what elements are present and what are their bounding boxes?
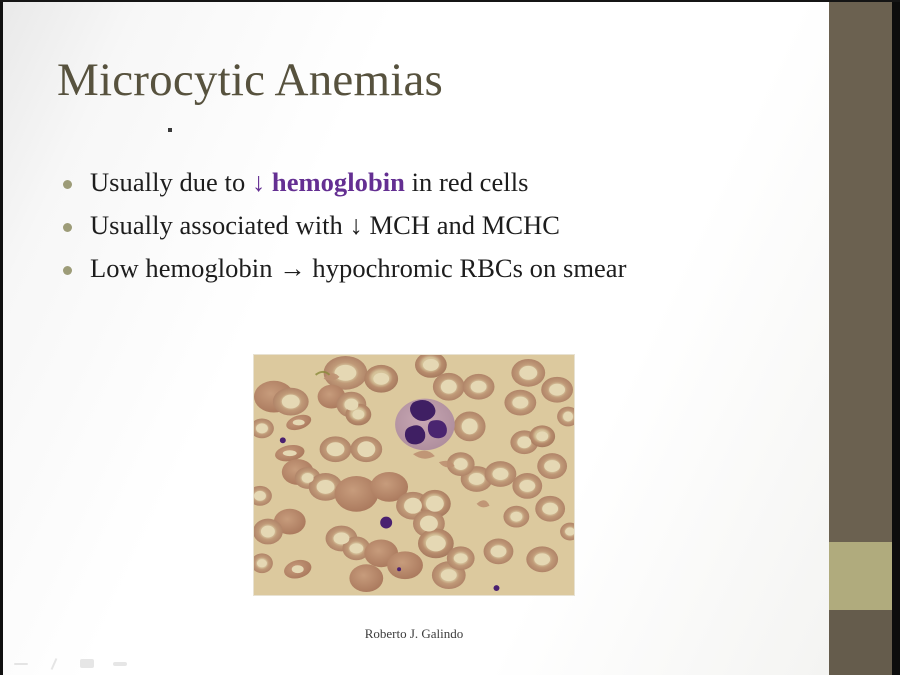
bullet-2-pre: Usually associated with ↓ MCH and MCHC [90, 210, 560, 240]
pointer-icon[interactable] [112, 657, 129, 670]
slide-icon[interactable] [79, 657, 96, 670]
image-caption: Roberto J. Galindo [253, 626, 575, 642]
bullet-dot-icon [63, 180, 72, 189]
slide-canvas: Microcytic Anemias Usually due to ↓ hemo… [3, 2, 829, 675]
blood-smear-micrograph [253, 354, 575, 596]
blood-smear-illustration [254, 355, 574, 595]
frame-right-edge [892, 0, 900, 675]
frame-top-edge [0, 0, 900, 2]
back-arrow-icon[interactable] [13, 657, 30, 670]
bullet-dot-icon [63, 223, 72, 232]
bullet-3-pre: Low hemoglobin [90, 253, 279, 283]
title-period-mark [168, 128, 172, 132]
frame-left-edge [0, 0, 3, 675]
page-title: Microcytic Anemias [57, 55, 443, 106]
bullet-text-3: Low hemoglobin → hypochromic RBCs on sme… [90, 252, 627, 286]
neutrophil-white-blood-cell [395, 399, 455, 451]
bullet-3-tail: hypochromic RBCs on smear [306, 253, 627, 283]
bullet-text-2: Usually associated with ↓ MCH and MCHC [90, 209, 560, 243]
presentation-toolbar[interactable] [13, 657, 129, 670]
bullet-list: Usually due to ↓ hemoglobin in red cells… [63, 166, 803, 295]
list-item: Low hemoglobin → hypochromic RBCs on sme… [63, 252, 803, 286]
list-item: Usually associated with ↓ MCH and MCHC [63, 209, 803, 243]
bullet-text-1: Usually due to ↓ hemoglobin in red cells [90, 166, 529, 200]
pen-icon[interactable] [46, 657, 63, 670]
bullet-dot-icon [63, 266, 72, 275]
bullet-1-pre: Usually due to [90, 167, 252, 197]
bullet-1-emphasis: ↓ hemoglobin [252, 167, 405, 197]
sidebar-accent-block [829, 542, 892, 610]
right-arrow-icon: → [279, 253, 306, 283]
slide-sidebar-decoration [829, 2, 892, 675]
sidebar-lower-block [829, 610, 892, 675]
bullet-1-post: in red cells [405, 167, 529, 197]
list-item: Usually due to ↓ hemoglobin in red cells [63, 166, 803, 200]
presentation-screen: Microcytic Anemias Usually due to ↓ hemo… [0, 0, 900, 675]
